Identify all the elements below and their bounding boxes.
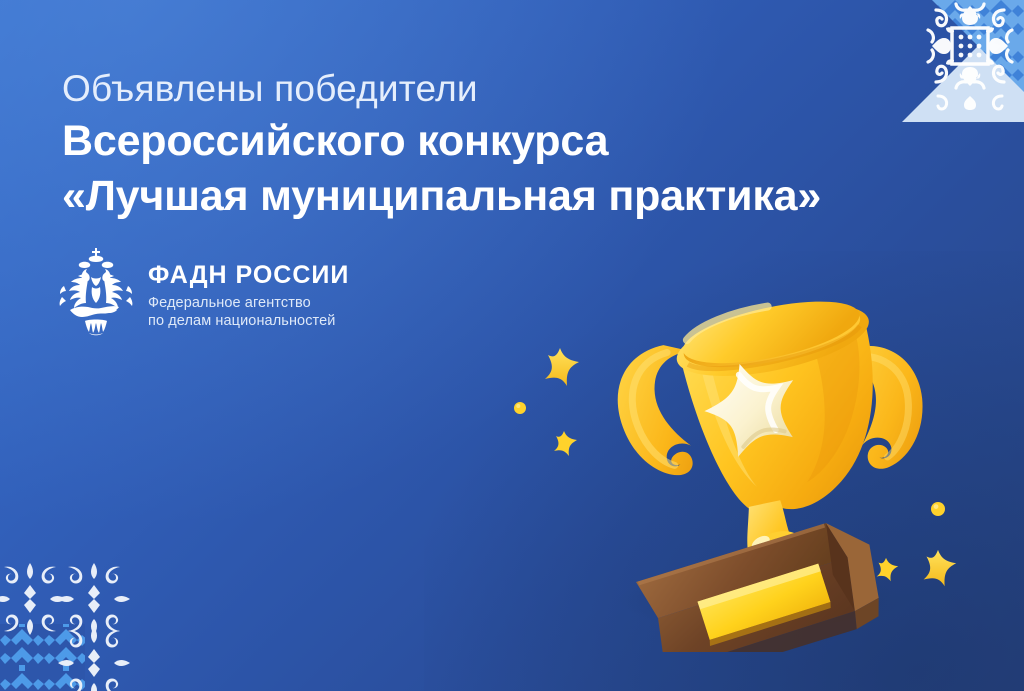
double-headed-eagle-icon	[58, 247, 134, 339]
ornament-bottom-left	[0, 539, 152, 691]
headline-line-3: «Лучшая муниципальная практика»	[62, 169, 942, 224]
logo-title: ФАДН РОССИИ	[148, 261, 349, 289]
star-small-right-icon	[871, 555, 901, 585]
logo-subtitle-line-1: Федеральное агентство	[148, 294, 349, 312]
dot-small-left-icon	[513, 401, 527, 415]
announcement-banner: Объявлены победители Всероссийского конк…	[0, 0, 1024, 691]
dot-small-right-icon	[930, 501, 946, 517]
headline-line-1: Объявлены победители	[62, 64, 942, 114]
fadn-logo: ФАДН РОССИИ Федеральное агентство по дел…	[58, 247, 349, 339]
star-large-right-icon	[915, 546, 961, 592]
logo-subtitle-line-2: по делам национальностей	[148, 312, 349, 330]
logo-text-block: ФАДН РОССИИ Федеральное агентство по дел…	[148, 247, 349, 330]
headline-line-2: Всероссийского конкурса	[62, 114, 942, 169]
headline-block: Объявлены победители Всероссийского конк…	[62, 64, 942, 224]
